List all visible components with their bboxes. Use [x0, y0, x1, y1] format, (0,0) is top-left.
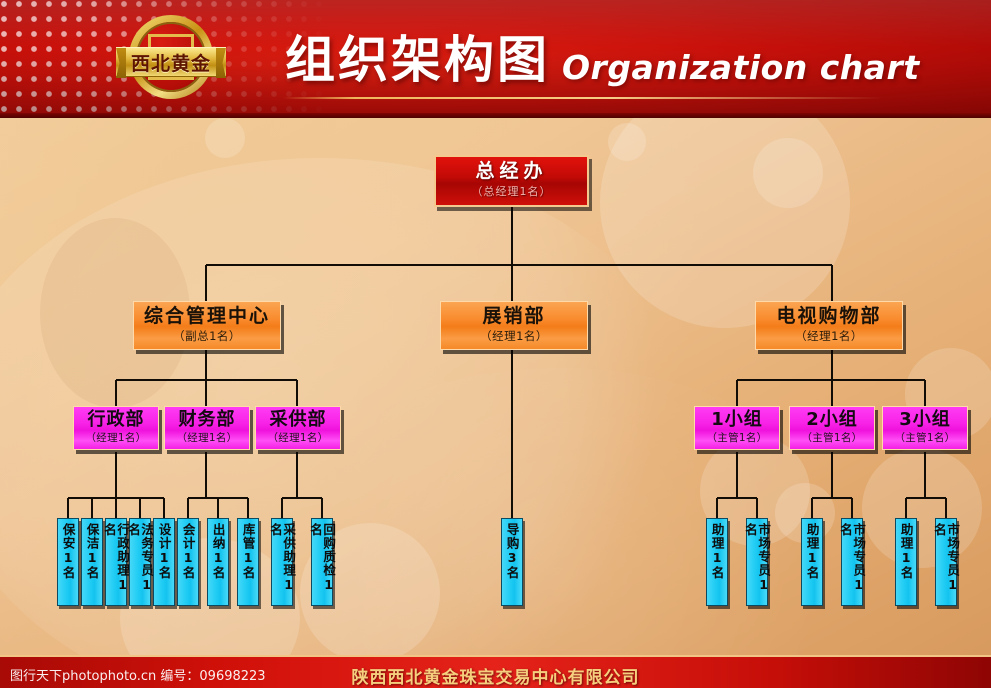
leaf-procurement-assistant[interactable]: 采供助理1名 [271, 518, 293, 606]
node-box[interactable]: 2小组 （主管1名） [789, 406, 875, 450]
leaf-sales-guide[interactable]: 导购3名 [501, 518, 523, 606]
poster-header: 西北黄金 组织架构图 Organization chart [0, 0, 991, 118]
node-subtitle: （主管1名） [883, 430, 967, 445]
leaf-label: 市场专员1名 [933, 523, 959, 605]
leaf-market-specialist-group3[interactable]: 市场专员1名 [935, 518, 957, 606]
node-title: 1小组 [695, 410, 779, 430]
company-name: 陕西西北黄金珠宝交易中心有限公司 [0, 663, 991, 688]
node-box[interactable]: 综合管理中心 （副总1名） [133, 301, 281, 350]
node-title: 3小组 [883, 410, 967, 430]
organization-chart-poster: 西北黄金 组织架构图 Organization chart [0, 0, 991, 688]
node-box[interactable]: 采供部 （经理1名） [255, 406, 341, 450]
leaf-legal-specialist[interactable]: 法务专员1名 [129, 518, 151, 606]
leaf-label: 助理1名 [899, 523, 912, 580]
leaf-label: 法务专员1名 [127, 523, 153, 605]
node-group-3[interactable]: 3小组 （主管1名） [882, 406, 968, 450]
node-subtitle: （副总1名） [134, 328, 280, 344]
node-box[interactable]: 行政部 （经理1名） [73, 406, 159, 450]
node-box[interactable]: 电视购物部 （经理1名） [755, 301, 903, 350]
leaf-label: 库管1名 [241, 523, 254, 580]
leaf-label: 助理1名 [710, 523, 723, 580]
node-box[interactable]: 3小组 （主管1名） [882, 406, 968, 450]
node-box[interactable]: 总经办 （总经理1名） [434, 155, 589, 207]
node-title: 总经办 [436, 162, 587, 182]
leaf-cashier[interactable]: 出纳1名 [207, 518, 229, 606]
leaf-cleaner[interactable]: 保洁1名 [81, 518, 103, 606]
page-title-en: Organization chart [562, 48, 920, 87]
leaf-buyback-inspection[interactable]: 回购质检1名 [311, 518, 333, 606]
poster-footer: 图行天下photophoto.cn 编号：09698223 陕西西北黄金珠宝交易… [0, 655, 991, 688]
leaf-label: 导购3名 [505, 523, 518, 580]
leaf-label: 采供助理1名 [269, 523, 295, 605]
node-comprehensive-management-center[interactable]: 综合管理中心 （副总1名） [133, 301, 281, 350]
leaf-label: 会计1名 [181, 523, 194, 580]
node-subtitle: （总经理1名） [436, 183, 587, 199]
node-general-manager-office[interactable]: 总经办 （总经理1名） [434, 155, 589, 207]
leaf-market-specialist-group1[interactable]: 市场专员1名 [746, 518, 768, 606]
node-title: 行政部 [74, 410, 158, 430]
node-subtitle: （主管1名） [790, 430, 874, 445]
logo-text: 西北黄金 [131, 49, 211, 76]
logo-banner: 西北黄金 [116, 47, 226, 77]
leaf-admin-assistant[interactable]: 行政助理1名 [105, 518, 127, 606]
title-underline-rule [283, 97, 883, 99]
node-title: 展销部 [441, 306, 587, 327]
leaf-accountant[interactable]: 会计1名 [177, 518, 199, 606]
node-box[interactable]: 1小组 （主管1名） [694, 406, 780, 450]
leaf-label: 设计1名 [157, 523, 170, 580]
node-title: 采供部 [256, 410, 340, 430]
node-box[interactable]: 财务部 （经理1名） [164, 406, 250, 450]
node-subtitle: （经理1名） [756, 328, 902, 344]
leaf-warehouse-keeper[interactable]: 库管1名 [237, 518, 259, 606]
leaf-security-guard[interactable]: 保安1名 [57, 518, 79, 606]
leaf-assistant-group1[interactable]: 助理1名 [706, 518, 728, 606]
node-subtitle: （经理1名） [74, 430, 158, 445]
leaf-designer[interactable]: 设计1名 [153, 518, 175, 606]
node-subtitle: （经理1名） [441, 328, 587, 344]
node-title: 2小组 [790, 410, 874, 430]
leaf-assistant-group2[interactable]: 助理1名 [801, 518, 823, 606]
node-box[interactable]: 展销部 （经理1名） [440, 301, 588, 350]
leaf-market-specialist-group2[interactable]: 市场专员1名 [841, 518, 863, 606]
page-title-cn: 组织架构图 [285, 35, 550, 85]
node-admin-dept[interactable]: 行政部 （经理1名） [73, 406, 159, 450]
node-title: 财务部 [165, 410, 249, 430]
leaf-label: 市场专员1名 [744, 523, 770, 605]
node-finance-dept[interactable]: 财务部 （经理1名） [164, 406, 250, 450]
leaf-label: 市场专员1名 [839, 523, 865, 605]
node-subtitle: （经理1名） [256, 430, 340, 445]
leaf-assistant-group3[interactable]: 助理1名 [895, 518, 917, 606]
node-procurement-dept[interactable]: 采供部 （经理1名） [255, 406, 341, 450]
leaf-label: 助理1名 [805, 523, 818, 580]
leaf-label: 回购质检1名 [309, 523, 335, 605]
node-subtitle: （主管1名） [695, 430, 779, 445]
node-group-2[interactable]: 2小组 （主管1名） [789, 406, 875, 450]
node-exhibition-sales-dept[interactable]: 展销部 （经理1名） [440, 301, 588, 350]
company-logo: 西北黄金 [116, 11, 226, 105]
node-group-1[interactable]: 1小组 （主管1名） [694, 406, 780, 450]
node-subtitle: （经理1名） [165, 430, 249, 445]
leaf-label: 保安1名 [61, 523, 74, 580]
leaf-label: 保洁1名 [85, 523, 98, 580]
node-tv-shopping-dept[interactable]: 电视购物部 （经理1名） [755, 301, 903, 350]
node-title: 综合管理中心 [134, 306, 280, 327]
leaf-label: 出纳1名 [211, 523, 224, 580]
node-title: 电视购物部 [756, 306, 902, 327]
